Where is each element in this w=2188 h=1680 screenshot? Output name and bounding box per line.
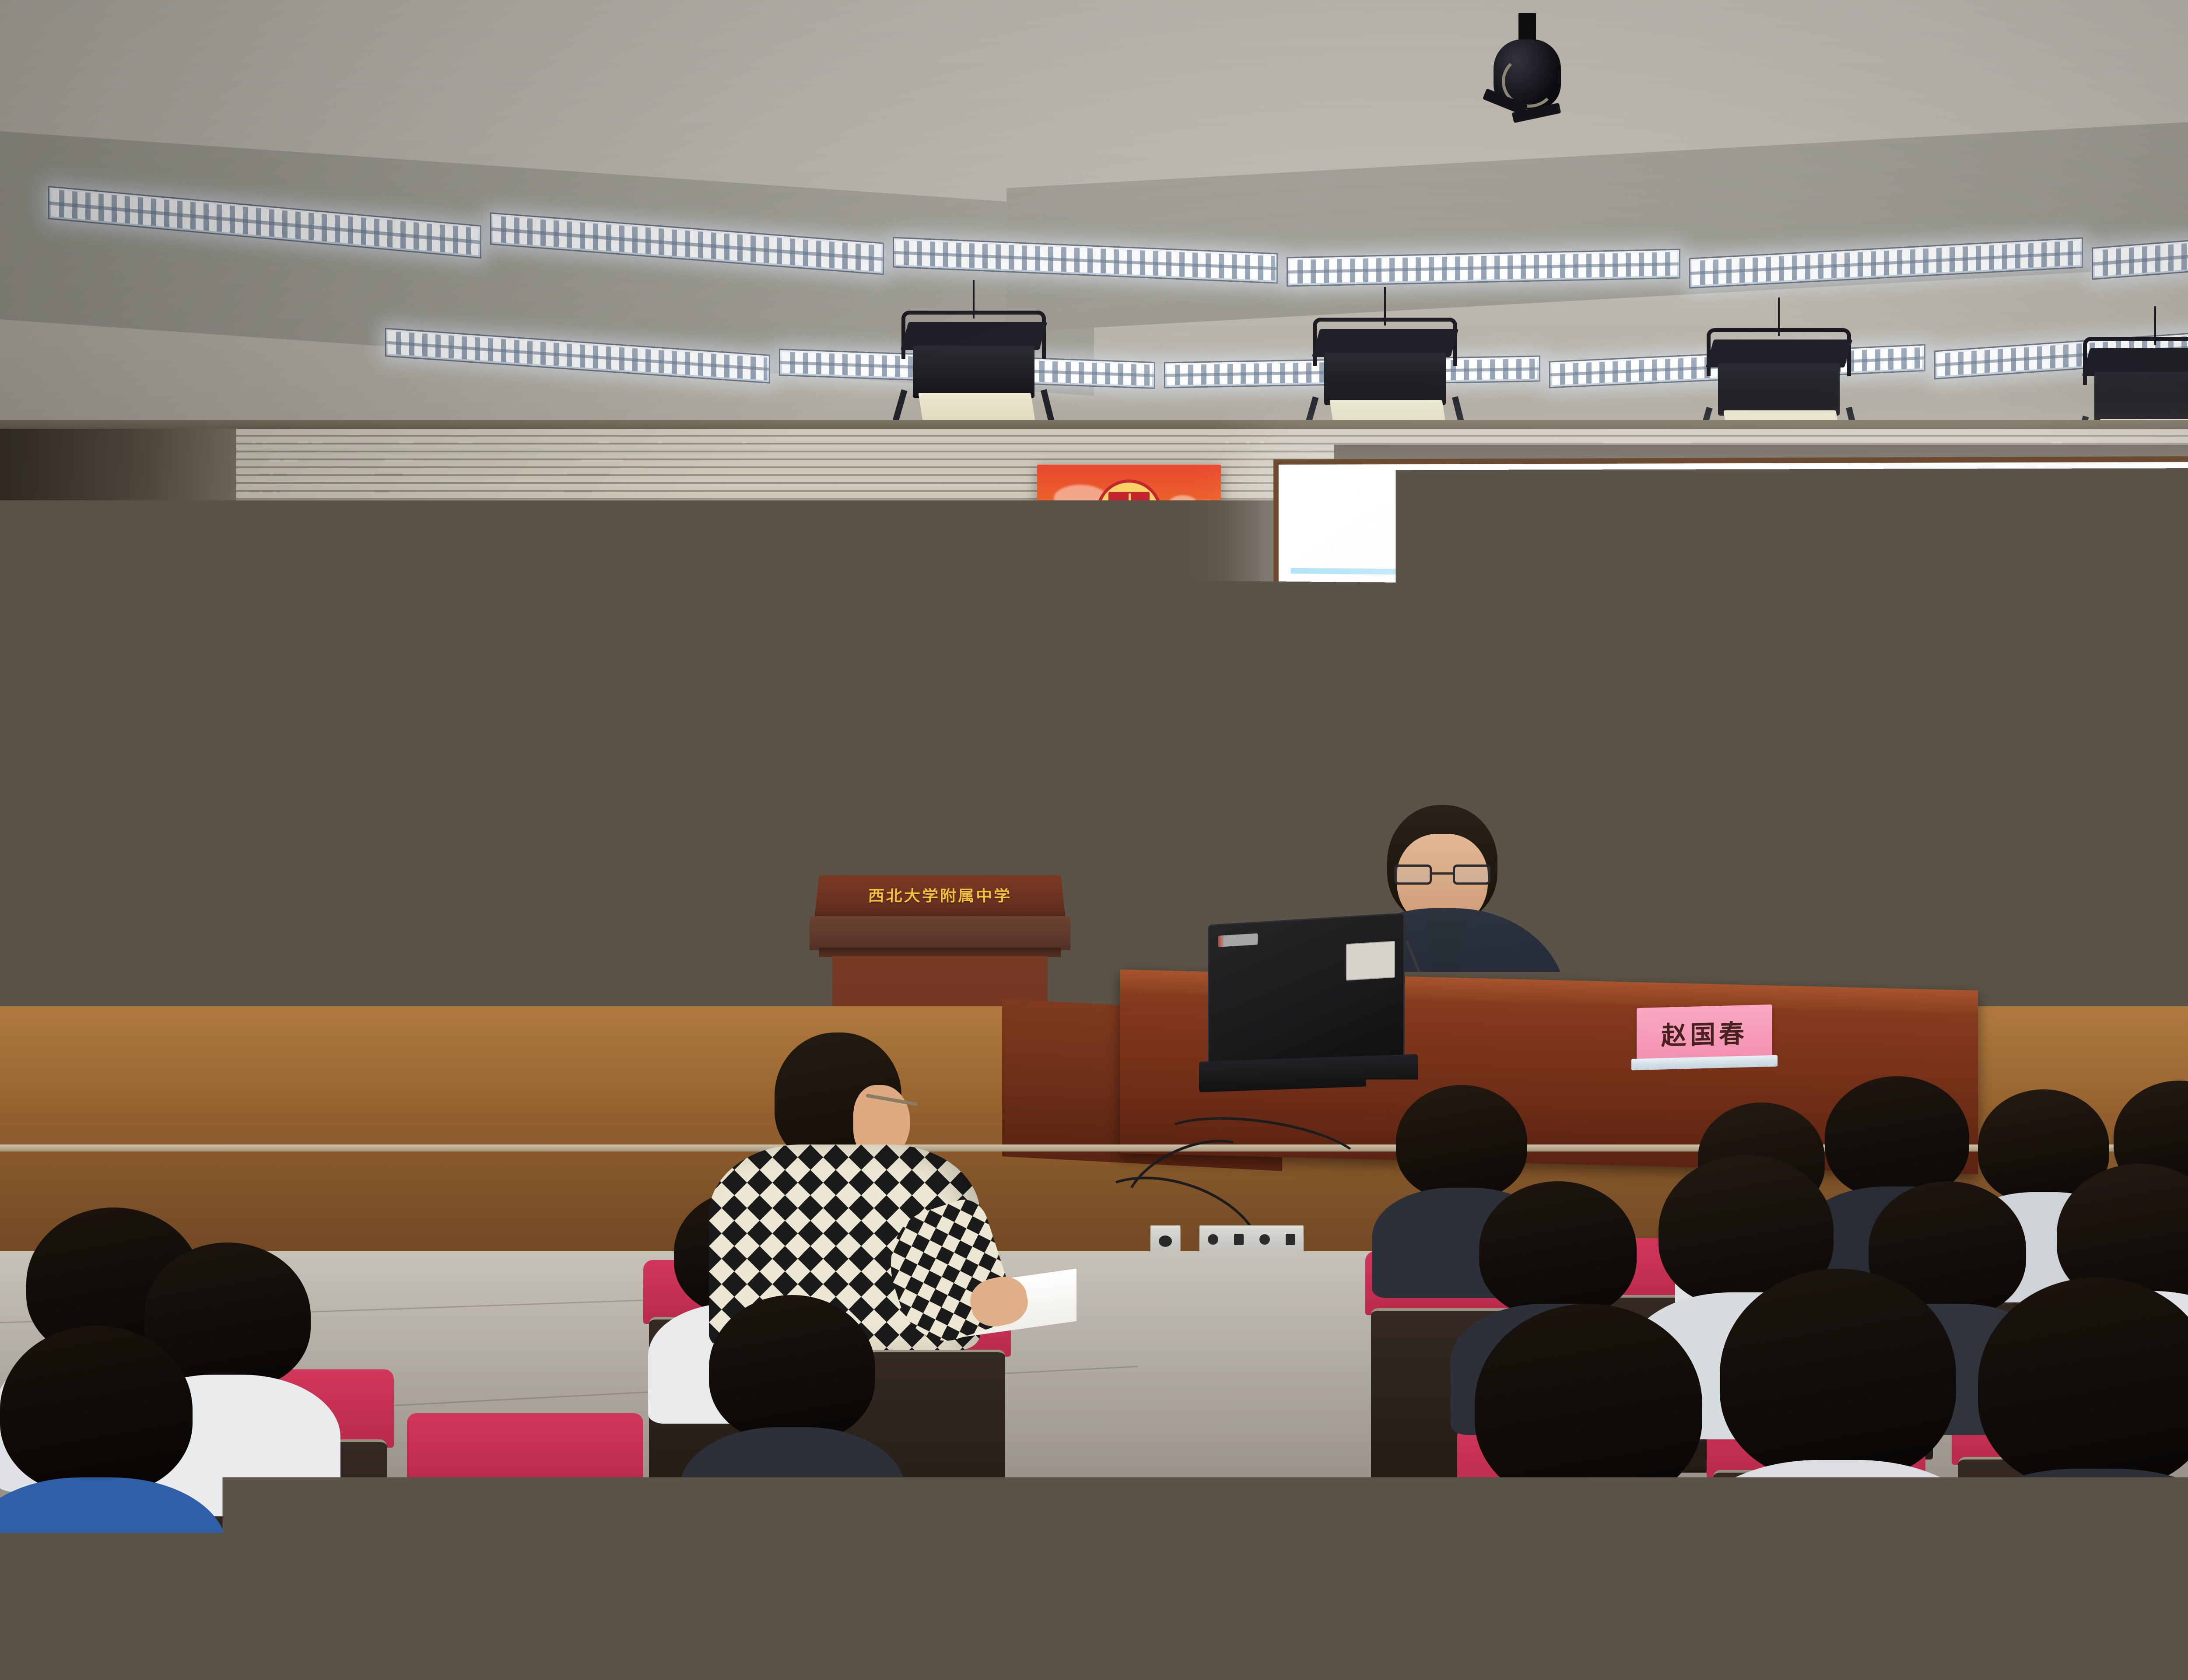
audience-shoulders <box>0 1477 227 1640</box>
glasses-lens <box>1453 864 1490 885</box>
connector-port[interactable] <box>1234 1234 1244 1245</box>
presenter-laptop[interactable] <box>1208 919 1405 1063</box>
laptop-brand-logo <box>1218 933 1258 947</box>
crest-inner <box>1108 492 1150 533</box>
audience-member <box>1812 1505 2083 1680</box>
tea-cup-lid <box>1560 991 1602 1006</box>
student-ear <box>461 800 494 845</box>
audience-head <box>1475 1304 1702 1505</box>
banner-school-name-en: MIDDLE SCHOOL AFFILIATED TO NORTHWEST UN… <box>1037 567 1221 574</box>
audience-head <box>1978 1277 2188 1489</box>
av-connector-panel[interactable] <box>1199 1225 1304 1254</box>
spotlight-body <box>2094 372 2188 424</box>
slide-group-items: （1）培养科学兴趣； （2）善于观察，提出科学问题； （3）找出解决科学问题的正… <box>1451 600 2188 791</box>
connector-port[interactable] <box>1208 1234 1218 1245</box>
slide-group: 自身努力 （1）培养科学兴趣； （2）善于观察，提出科学问题； （3）找出解决科… <box>1279 598 2188 791</box>
wall-power-outlet[interactable] <box>1150 1225 1181 1254</box>
slide-title: 如何成为一名成功的科学家？ <box>1279 490 2188 568</box>
student-trousers <box>298 1365 656 1680</box>
student-uniform-jacket: 西大附中 <box>245 857 709 1391</box>
banner-bubble <box>1168 495 1197 513</box>
eyeglasses-icon <box>1394 864 1490 885</box>
audience-head <box>2184 1479 2188 1680</box>
uniform-side-stripe <box>672 1374 691 1680</box>
banner-bubble <box>1198 500 1217 514</box>
lecture-hall-photo: 西北大学附属中学 MIDDLE SCHOOL AFFILIATED TO NOR… <box>0 0 2188 1680</box>
podium-shelf <box>819 948 1061 957</box>
laptop-asset-sticker <box>1346 941 1395 981</box>
audience-head <box>0 1326 193 1494</box>
podium-lip <box>810 916 1070 950</box>
audience-head <box>1505 1549 1768 1680</box>
school-crest-icon <box>1096 479 1162 545</box>
glasses-lens <box>1394 864 1432 885</box>
uniform-school-text: 西大附中 <box>298 1158 613 1250</box>
spotlight-body <box>1718 363 1839 416</box>
banner-motto-column: 勤诚博美 <box>1105 596 1153 893</box>
audience-head <box>1825 1076 1969 1198</box>
eyeglasses-icon <box>429 766 516 791</box>
podium-school-name: 西北大学附属中学 <box>816 884 1064 906</box>
speaker-name-text: 赵国春 <box>1661 1013 1748 1052</box>
slide-divider-rule <box>1291 568 2188 581</box>
banner-motto: 勤诚博美 <box>1037 596 1221 893</box>
tea-cup <box>1558 1002 1604 1066</box>
audience-head <box>1812 1505 2083 1680</box>
connector-port[interactable] <box>1259 1234 1270 1245</box>
spotlight-body <box>1324 353 1445 405</box>
spotlight-body <box>913 346 1034 398</box>
audience-head <box>709 1295 875 1442</box>
audience-head <box>1479 1181 1637 1317</box>
stage-spotlight <box>901 280 1046 442</box>
ceiling <box>0 0 2188 472</box>
speaker-nameplate: 赵国春 <box>1637 1004 1772 1060</box>
standing-student: 西大附中 <box>245 682 709 1680</box>
glasses-bridge <box>1432 872 1453 875</box>
connector-port[interactable] <box>1286 1234 1295 1245</box>
audience-member <box>0 1326 193 1597</box>
ceiling-camera <box>1475 13 1580 144</box>
slide-group-label: 自身努力 <box>1344 599 1450 718</box>
audience-member <box>1505 1549 1768 1680</box>
ceiling-bay-right <box>1006 104 2188 332</box>
audience-head <box>1720 1269 1956 1480</box>
school-banner-left: 西北大学附属中学 MIDDLE SCHOOL AFFILIATED TO NOR… <box>1037 465 1221 906</box>
audience-member <box>2184 1479 2188 1680</box>
